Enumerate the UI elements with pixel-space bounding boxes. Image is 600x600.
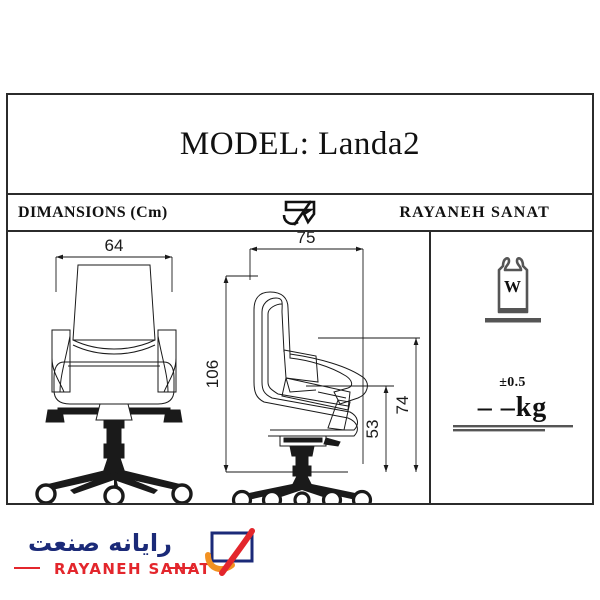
model-title-row: MODEL: Landa2 [8,95,592,195]
logo-right-rule [166,563,206,573]
dimension-front-width [56,255,172,292]
rayaneh-flag-mark-icon [278,198,322,228]
tolerance-label: ±0.5 [431,375,594,391]
logo-persian-text: رایانه صنعت [28,529,172,557]
side-view-group: 75 106 74 53 [198,232,429,503]
dimension-value-106: 106 [203,360,222,388]
drawing-frame: MODEL: Landa2 DIMANSIONS (Cm) RAYANEH SA… [6,93,594,505]
weight-symbol: W [431,277,594,297]
dimensions-label: DIMANSIONS (Cm) [18,204,168,222]
dimension-value-75: 75 [297,232,316,247]
weight-unit: kg [516,392,548,423]
dimension-value-74: 74 [393,396,412,415]
dimension-value-64: 64 [105,236,124,255]
dimension-value-53: 53 [363,420,382,439]
page-title: MODEL: Landa2 [180,126,420,163]
dimension-side-depth [250,247,363,464]
logo-left-rule [14,563,50,573]
weight-value: – – [478,392,516,423]
weight-value-row: – –kg [431,392,594,432]
company-name-label: RAYANEH SANAT [399,204,550,222]
weight-underline [453,424,573,432]
weight-value-unit: – –kg [478,392,548,423]
weight-panel: W ±0.5 – –kg [431,232,594,503]
rayaneh-square-check-icon [202,527,264,581]
footer-logo: رایانه صنعت RAYANEH SANAT [14,527,264,589]
front-view-group: 64 [8,232,218,503]
subtitle-row: DIMANSIONS (Cm) RAYANEH SANAT [8,195,592,232]
